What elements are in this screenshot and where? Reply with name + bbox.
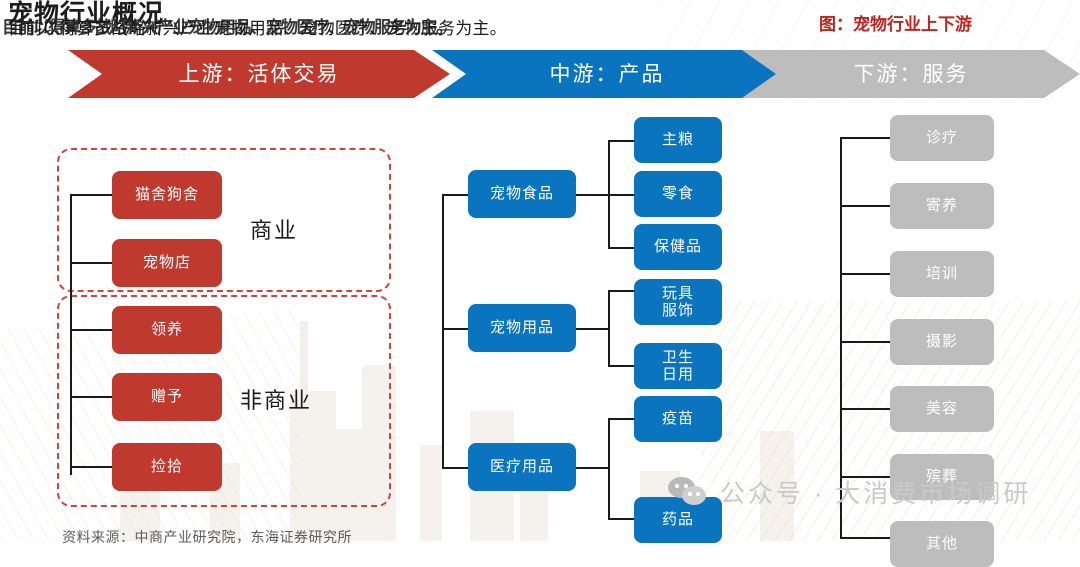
node-label: 宠物店 <box>143 254 191 271</box>
node-midstream-vaccines[interactable]: 疫苗 <box>634 396 722 442</box>
node-midstream-medical-supplies[interactable]: 医疗用品 <box>468 443 576 491</box>
banner-midstream: 中游：产品 <box>432 50 782 98</box>
upstream-group-noncommercial-label: 非商业 <box>240 383 312 415</box>
wechat-bubble-back <box>668 477 695 498</box>
midstream-spine-line <box>442 195 444 468</box>
node-downstream-funeral[interactable]: 殡葬 <box>890 454 994 500</box>
figure-label: 图：宠物行业上下游 <box>819 10 972 35</box>
node-label: 美容 <box>926 400 958 417</box>
node-upstream-adoption[interactable]: 领养 <box>112 306 222 354</box>
node-upstream-gifting[interactable]: 赠予 <box>112 373 222 421</box>
node-midstream-staple-food[interactable]: 主粮 <box>634 117 722 163</box>
node-downstream-boarding[interactable]: 寄养 <box>890 183 994 229</box>
banner-upstream: 上游：活体交易 <box>68 50 450 98</box>
node-upstream-pet-shop[interactable]: 宠物店 <box>112 239 222 287</box>
node-midstream-health-products[interactable]: 保健品 <box>634 224 722 270</box>
banner-upstream-label: 上游：活体交易 <box>179 58 340 88</box>
downstream-trunk-line <box>840 138 842 538</box>
node-downstream-grooming[interactable]: 美容 <box>890 386 994 432</box>
node-label: 其他 <box>926 535 958 552</box>
upstream-group-noncommercial <box>57 295 391 507</box>
node-label: 药品 <box>662 511 694 528</box>
midstream-food-branch <box>608 140 634 142</box>
midstream-supplies-stem <box>576 328 608 330</box>
upstream-branch-line <box>70 466 112 468</box>
midstream-spine-branch <box>442 328 468 330</box>
downstream-branch-line <box>840 341 890 343</box>
midstream-food-stem <box>576 194 608 196</box>
node-label: 宠物食品 <box>490 185 554 202</box>
downstream-branch-line <box>840 137 890 139</box>
node-midstream-pet-food[interactable]: 宠物食品 <box>468 170 576 218</box>
upstream-branch-line <box>70 262 112 264</box>
downstream-branch-line <box>840 537 890 539</box>
node-label: 捡拾 <box>151 458 183 475</box>
node-label: 疫苗 <box>662 410 694 427</box>
midstream-supplies-bus <box>608 291 610 366</box>
node-midstream-hygiene-daily[interactable]: 卫生日用 <box>634 343 722 389</box>
upstream-branch-line <box>70 396 112 398</box>
banner-downstream: 下游：服务 <box>742 50 1080 98</box>
midstream-medical-bus <box>608 419 610 519</box>
node-upstream-picking-up[interactable]: 捡拾 <box>112 443 222 491</box>
downstream-branch-line <box>840 205 890 207</box>
node-label: 诊疗 <box>926 129 958 146</box>
banner-midstream-label: 中游：产品 <box>550 58 665 88</box>
banner-downstream-label: 下游：服务 <box>854 58 969 88</box>
source-note: 资料来源：中商产业研究院，东海证券研究所 <box>62 527 352 547</box>
node-label: 保健品 <box>654 238 702 255</box>
downstream-branch-line <box>840 273 890 275</box>
node-midstream-medicines[interactable]: 药品 <box>634 497 722 543</box>
node-midstream-pet-supplies[interactable]: 宠物用品 <box>468 304 576 352</box>
node-label: 猫舍狗舍 <box>135 186 199 203</box>
downstream-branch-line <box>840 476 890 478</box>
node-label: 培训 <box>926 265 958 282</box>
node-downstream-clinic[interactable]: 诊疗 <box>890 115 994 161</box>
downstream-branch-line <box>840 408 890 410</box>
node-midstream-snacks[interactable]: 零食 <box>634 171 722 217</box>
slide-header: 宠物行业概况 目前以得算多战略新兴产业宠物用品、宠物医疗、宠物服务为主。 目前以… <box>0 0 1080 46</box>
node-label: 主粮 <box>662 131 694 148</box>
midstream-food-branch <box>608 194 634 196</box>
node-label: 殡葬 <box>926 468 958 485</box>
midstream-spine-branch <box>442 467 468 469</box>
node-midstream-toys-apparel[interactable]: 玩具服饰 <box>634 279 722 325</box>
midstream-supplies-branch <box>608 365 634 367</box>
node-downstream-training[interactable]: 培训 <box>890 251 994 297</box>
skyline-building <box>420 445 442 541</box>
upstream-trunk-line <box>70 195 72 475</box>
upstream-group-commercial <box>57 148 391 292</box>
node-downstream-photography[interactable]: 摄影 <box>890 319 994 365</box>
node-label: 寄养 <box>926 197 958 214</box>
node-downstream-others[interactable]: 其他 <box>890 521 994 567</box>
midstream-spine-branch <box>442 194 468 196</box>
node-label: 赠予 <box>151 388 183 405</box>
upstream-branch-line <box>70 329 112 331</box>
node-label: 领养 <box>151 321 183 338</box>
midstream-medical-stem <box>576 467 608 469</box>
node-label: 摄影 <box>926 333 958 350</box>
midstream-supplies-branch <box>608 290 634 292</box>
node-label: 医疗用品 <box>490 458 554 475</box>
node-label: 卫生日用 <box>662 349 694 384</box>
midstream-medical-branch <box>608 418 634 420</box>
node-label: 玩具服饰 <box>662 285 694 320</box>
page-subtitle: 目前以得算多战略新兴产业宠物用品、宠物医疗、宠物服务为主。 <box>8 14 507 39</box>
node-label: 宠物用品 <box>490 319 554 336</box>
skyline-building <box>760 431 794 541</box>
node-label: 零食 <box>662 185 694 202</box>
upstream-group-commercial-label: 商业 <box>250 213 298 245</box>
upstream-branch-line <box>70 194 112 196</box>
node-upstream-catteries-kennels[interactable]: 猫舍狗舍 <box>112 171 222 219</box>
midstream-food-branch <box>608 247 634 249</box>
midstream-medical-branch <box>608 518 634 520</box>
